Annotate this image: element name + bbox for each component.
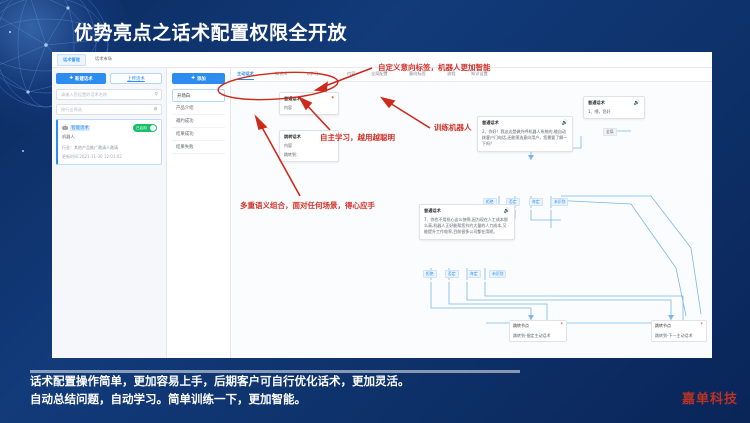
left-action-buttons: ✚ 新建话术 上传话术 — [56, 73, 162, 84]
menu-item-invite-success[interactable]: 邀约成功 — [172, 115, 225, 128]
branch-chip-global[interactable]: 全局 — [603, 128, 617, 136]
menu-item-opening[interactable]: 开场白 — [172, 89, 225, 102]
search-input[interactable]: 请输入您设置的话术名称 ⚲ — [56, 89, 162, 100]
tab-huashu-guanli[interactable]: 话术管理 — [57, 54, 86, 66]
industry-filter-select[interactable]: 按行业筛选 ⚙ — [56, 104, 162, 115]
subtab-knowledge-set[interactable]: 知识设置 — [471, 71, 488, 77]
flow-node-title: 跳转话术 — [284, 134, 301, 140]
plus-icon: ✚ — [191, 76, 195, 81]
flow-node-body: 2、你好！我这边是做外呼机器人系统的,能自动拨客户门电话,还能筛选意向用户，您需… — [482, 129, 568, 148]
company-watermark: 嘉单科技 — [682, 388, 738, 407]
search-icon[interactable]: ⚲ — [154, 92, 158, 97]
caption-line-1: 话术配置操作简单，更加容易上手，后期客户可自行优化话术，更加灵活。 — [30, 373, 410, 391]
script-card-description: 行业：其他产品推广邀请人邀请 — [62, 145, 157, 151]
flow-node-second-script[interactable]: 普通话术 🔊 7、你也不用担心这么快啊,因为现在人工成本那么高,机器人正好能帮您… — [419, 204, 515, 240]
required-marker: * — [331, 97, 334, 102]
flow-node-body: 7、你也不用担心这么快啊,因为现在人工成本那么高,机器人正好能帮您节约大量的人力… — [424, 217, 510, 236]
flow-node-title: 跳转节点 — [513, 323, 529, 329]
script-card-title: 🤖 智能话术 — [62, 125, 90, 131]
speaker-icon[interactable]: 🔊 — [562, 121, 568, 126]
script-card-header: 🤖 智能话术 已启用 — [62, 124, 157, 132]
subtab-knowledge[interactable]: 知识库 — [275, 71, 288, 77]
branch-chip-negative-2[interactable]: 否定 — [445, 270, 459, 278]
flow-node-title: 跳转节点 — [655, 323, 671, 329]
app-window: 话术管理 话术市场 ✚ 新建话术 上传话术 请输入您设置的话术名称 ⚲ 按行业筛… — [52, 52, 712, 358]
flow-node-header: 普通话术 🔊 — [482, 120, 568, 126]
branch-chip-unknown[interactable]: 未识别 — [551, 198, 568, 206]
required-marker: * — [331, 135, 334, 140]
flow-node-main-script[interactable]: 普通话术 🔊 2、你好！我这边是做外呼机器人系统的,能自动拨客户门电话,还能筛选… — [477, 116, 573, 152]
toggle-knob — [150, 125, 156, 131]
flow-node-header: 普通话术 * — [284, 96, 334, 102]
add-button-label: 添加 — [197, 76, 206, 82]
flow-node-body: 1、喂，您好 — [588, 109, 640, 115]
subtab-self-learning[interactable]: ự学习 — [307, 71, 318, 77]
branch-chip-positive[interactable]: 肯定 — [529, 198, 543, 206]
menu-item-result-success[interactable]: 结果成功 — [172, 128, 225, 141]
flow-node-normal-top[interactable]: 普通话术 * 内容 — [279, 92, 339, 115]
branch-chip-positive-2[interactable]: 肯定 — [467, 270, 481, 278]
spark-dot — [22, 150, 24, 152]
subtab-main-script[interactable]: 主动话术 — [237, 71, 254, 77]
upload-script-button[interactable]: 上传话术 — [110, 73, 162, 84]
flow-node-jump-next[interactable]: 跳转节点 * 跳转到-下一主动话术 — [651, 320, 707, 342]
flow-node-body: 内容 — [284, 105, 334, 111]
add-button[interactable]: ✚ 添加 — [172, 73, 225, 84]
flow-node-header: 跳转节点 * — [513, 323, 563, 329]
script-card-subtitle: 机器人 — [62, 134, 157, 140]
flow-node-title: 普通话术 — [284, 96, 301, 102]
slide-caption: 话术配置操作简单，更加容易上手，后期客户可自行优化话术，更加灵活。 自动总结问题… — [30, 373, 410, 409]
search-placeholder: 请输入您设置的话术名称 — [61, 92, 107, 98]
toggle-label: 已启用 — [136, 126, 147, 131]
branch-chip-reject-2[interactable]: 拒绝 — [423, 270, 437, 278]
flow-canvas[interactable]: 主动话术 知识库 ự学习 内容 全局配置 意向标签 流程 知识设置 — [231, 68, 712, 358]
flow-node-body-2: 跳转到： — [284, 152, 334, 158]
slide-root: 优势亮点之话术配置权限全开放 话术管理 话术市场 ✚ 新建话术 上传话术 请输入… — [0, 0, 750, 423]
plus-icon: ✚ — [69, 76, 73, 81]
required-marker: * — [561, 323, 564, 328]
flow-node-title: 普通话术 — [588, 100, 605, 106]
canvas-tab-bar: 主动话术 知识库 ự学习 内容 全局配置 意向标签 流程 知识设置 — [231, 68, 712, 82]
enable-toggle[interactable]: 已启用 — [133, 124, 157, 132]
menu-item-product-intro[interactable]: 产品介绍 — [172, 102, 225, 115]
flow-node-header: 跳转节点 * — [655, 323, 703, 329]
flow-node-title: 普通话术 — [482, 120, 499, 126]
speaker-icon[interactable]: 🔊 — [634, 101, 640, 106]
script-card-updated: 更新时间:2021-11-30 12:03:02 — [62, 154, 157, 160]
required-marker: * — [701, 323, 704, 328]
tab-huashu-shichang[interactable]: 话术市场 — [90, 54, 117, 64]
subtab-intent-tag[interactable]: 意向标签 — [409, 71, 426, 77]
middle-panel: ✚ 添加 开场白 产品介绍 邀约成功 结果成功 结果失败 — [167, 68, 231, 358]
flow-node-header: 跳转话术 * — [284, 134, 334, 140]
flow-node-header: 普通话术 🔊 — [424, 208, 510, 214]
script-card-name: 智能话术 — [70, 125, 90, 131]
subtab-flow[interactable]: 流程 — [447, 71, 455, 77]
new-script-button[interactable]: ✚ 新建话术 — [56, 73, 106, 84]
flow-node-title: 普通话术 — [424, 208, 441, 214]
subtab-content[interactable]: 内容 — [347, 71, 355, 77]
speaker-icon[interactable]: 🔊 — [504, 209, 510, 214]
robot-icon: 🤖 — [62, 126, 68, 131]
settings-icon[interactable]: ⚙ — [154, 107, 158, 112]
flow-node-body: 跳转到-指定主动话术 — [513, 333, 563, 339]
caption-line-2: 自动总结问题，自动学习。简单训练一下，更加智能。 — [30, 391, 410, 409]
flow-node-body: 内容 — [284, 143, 334, 149]
menu-item-result-fail[interactable]: 结果失败 — [172, 141, 225, 154]
flow-node-body: 跳转到-下一主动话术 — [655, 333, 703, 339]
page-title: 优势亮点之话术配置权限全开放 — [74, 18, 347, 45]
flow-node-jump-script[interactable]: 跳转话术 * 内容 跳转到： — [279, 130, 339, 162]
new-script-label: 新建话术 — [75, 76, 93, 82]
left-panel: ✚ 新建话术 上传话术 请输入您设置的话术名称 ⚲ 按行业筛选 ⚙ 🤖 — [52, 68, 167, 358]
subtab-global-config[interactable]: 全局配置 — [371, 71, 388, 77]
app-tab-bar: 话术管理 话术市场 — [52, 52, 712, 68]
industry-placeholder: 按行业筛选 — [61, 107, 82, 113]
branch-chip-unknown-2[interactable]: 未识别 — [489, 270, 506, 278]
flow-node-jump-designated[interactable]: 跳转节点 * 跳转到-指定主动话术 — [509, 320, 567, 342]
script-card[interactable]: 🤖 智能话术 已启用 机器人 行业：其他产品推广邀请人邀请 更新时间:2021-… — [56, 119, 162, 165]
flow-node-header: 普通话术 🔊 — [588, 100, 640, 106]
flow-node-greeting[interactable]: 普通话术 🔊 1、喂，您好 — [583, 96, 645, 119]
upload-script-label: 上传话术 — [127, 76, 145, 82]
